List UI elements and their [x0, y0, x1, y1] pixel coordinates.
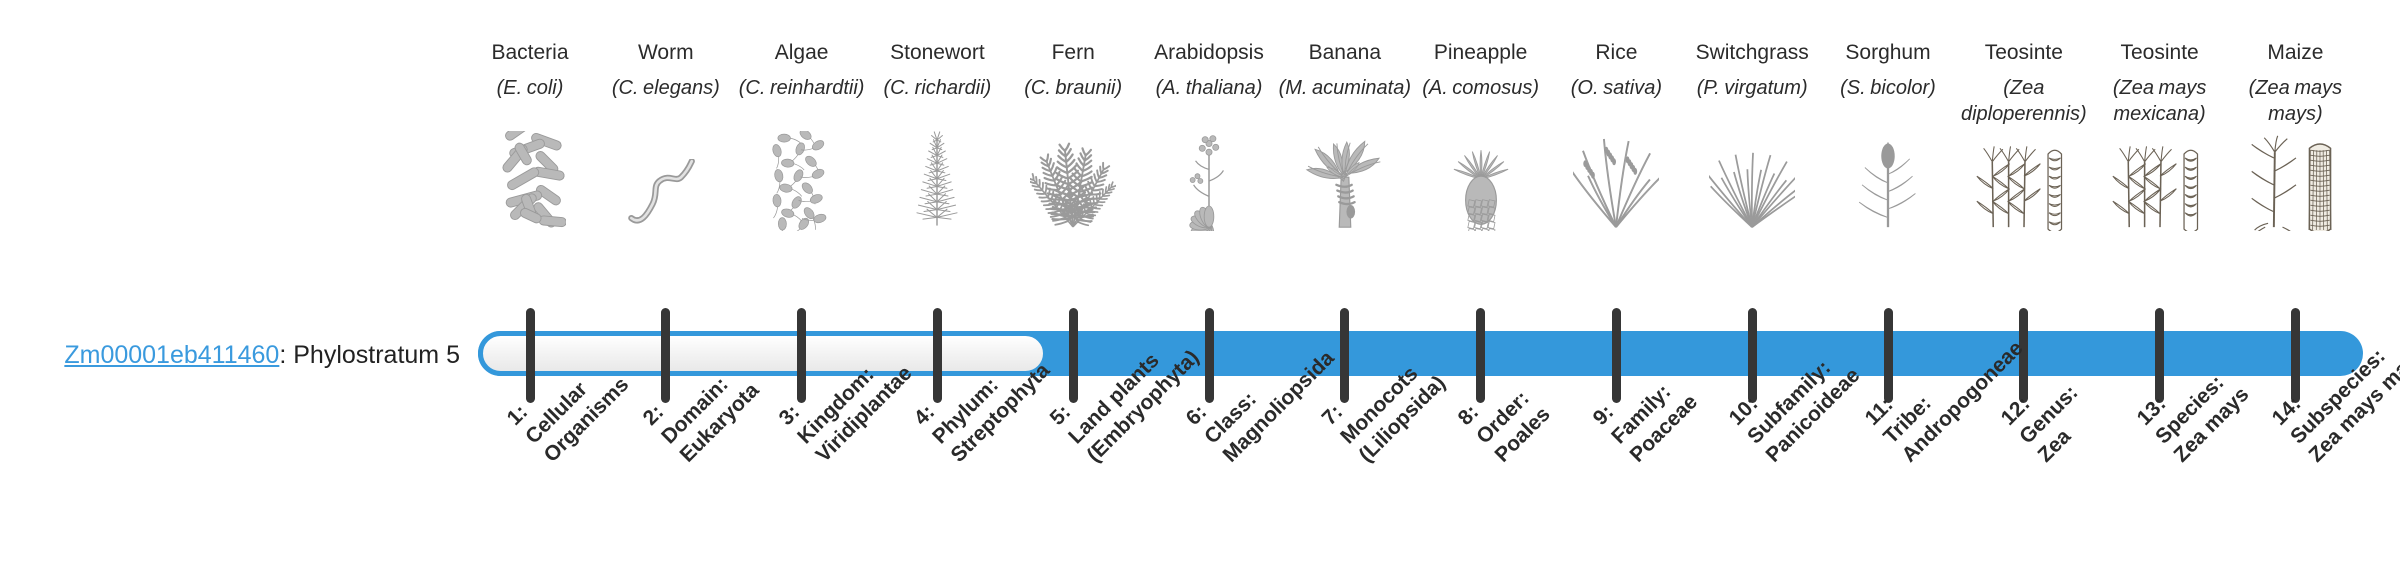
species-column: Rice(O. sativa) [1548, 40, 1684, 231]
rank-label: 8:Order:Poales [1453, 365, 1556, 468]
species-scientific-name: (A. comosus) [1413, 75, 1549, 127]
species-column: Bacteria(E. coli) [462, 40, 598, 231]
species-column: Teosinte(Zea diploperennis) [1956, 40, 2092, 231]
species-scientific-name: (S. bicolor) [1820, 75, 1956, 127]
species-common-name: Bacteria [462, 40, 598, 66]
teosinte-mexicana-icon [2092, 131, 2228, 231]
species-common-name: Pineapple [1413, 40, 1549, 66]
species-scientific-name: (Zea mays mays) [2227, 75, 2363, 127]
species-scientific-name: (C. elegans) [598, 75, 734, 127]
species-column: Sorghum(S. bicolor) [1820, 40, 1956, 231]
species-scientific-name: (C. reinhardtii) [734, 75, 870, 127]
arabidopsis-icon [1141, 131, 1277, 231]
bacteria-icon [462, 131, 598, 231]
banana-icon [1277, 131, 1413, 231]
species-common-name: Rice [1548, 40, 1684, 66]
species-column: Switchgrass(P. virgatum) [1684, 40, 1820, 231]
fern-icon [1005, 131, 1141, 231]
species-common-name: Arabidopsis [1141, 40, 1277, 66]
species-column: Algae(C. reinhardtii) [734, 40, 870, 231]
species-scientific-name: (M. acuminata) [1277, 75, 1413, 127]
algae-icon [734, 131, 870, 231]
species-column: Stonewort(C. richardii) [869, 40, 1005, 231]
species-common-name: Worm [598, 40, 734, 66]
phylostratum-value-text: Phylostratum 5 [293, 341, 460, 369]
species-scientific-name: (C. richardii) [869, 75, 1005, 127]
species-scientific-name: (P. virgatum) [1684, 75, 1820, 127]
maize-icon [2227, 131, 2363, 231]
switchgrass-icon [1684, 131, 1820, 231]
species-column: Teosinte(Zea mays mexicana) [2092, 40, 2228, 231]
sorghum-icon [1820, 131, 1956, 231]
species-scientific-name: (A. thaliana) [1141, 75, 1277, 127]
species-scientific-name: (E. coli) [462, 75, 598, 127]
worm-icon [598, 131, 734, 231]
species-common-name: Maize [2227, 40, 2363, 66]
species-column: Pineapple(A. comosus) [1413, 40, 1549, 231]
species-common-name: Banana [1277, 40, 1413, 66]
pineapple-icon [1413, 131, 1549, 231]
species-column: Maize(Zea mays mays) [2227, 40, 2363, 231]
species-scientific-name: (O. sativa) [1548, 75, 1684, 127]
species-common-name: Fern [1005, 40, 1141, 66]
species-column: Arabidopsis(A. thaliana) [1141, 40, 1277, 231]
species-column: Banana(M. acuminata) [1277, 40, 1413, 231]
species-common-name: Switchgrass [1684, 40, 1820, 66]
gene-id-link[interactable]: Zm00001eb411460 [64, 341, 279, 369]
rice-icon [1548, 131, 1684, 231]
species-common-name: Sorghum [1820, 40, 1956, 66]
rank-label: 14:Subspecies:Zea mays mays [2267, 303, 2400, 468]
species-common-name: Algae [734, 40, 870, 66]
gene-phylostratum-label: Zm00001eb411460: Phylostratum 5 [0, 340, 470, 370]
species-scientific-name: (Zea diploperennis) [1956, 75, 2092, 127]
species-scientific-name: (C. braunii) [1005, 75, 1141, 127]
species-column: Worm(C. elegans) [598, 40, 734, 231]
teosinte-diploperennis-icon [1956, 131, 2092, 231]
rank-label: 12:Genus:Zea [1996, 362, 2102, 468]
species-column: Fern(C. braunii) [1005, 40, 1141, 231]
species-scientific-name: (Zea mays mexicana) [2092, 75, 2228, 127]
species-common-name: Teosinte [2092, 40, 2228, 66]
stonewort-icon [869, 131, 1005, 231]
gene-label-separator: : [279, 341, 293, 369]
species-common-name: Stonewort [869, 40, 1005, 66]
species-common-name: Teosinte [1956, 40, 2092, 66]
phylostratum-figure: Zm00001eb411460: Phylostratum 5 Bacteria… [0, 0, 2400, 580]
